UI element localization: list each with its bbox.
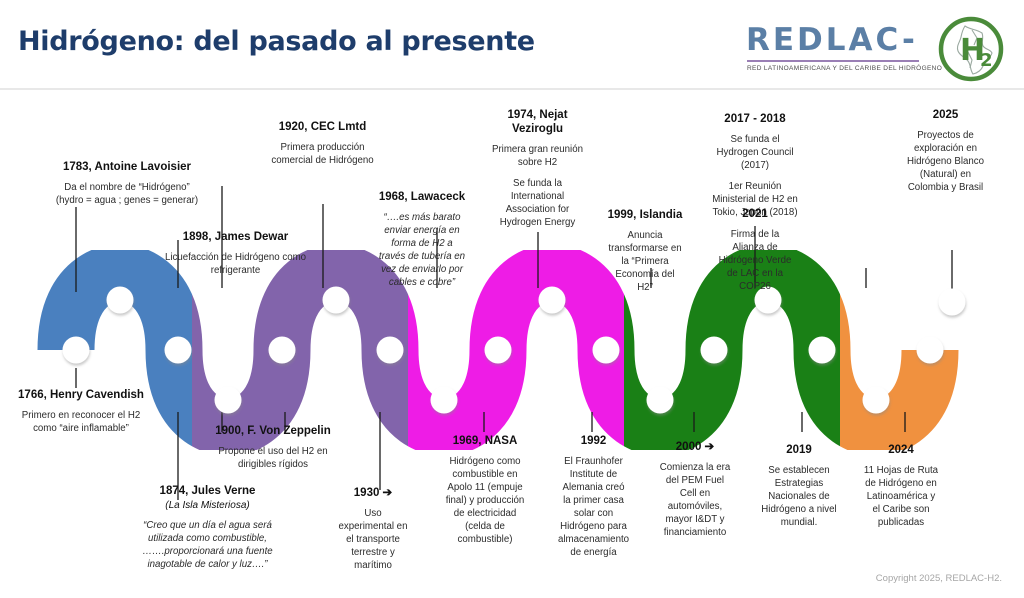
entry-body: Se establecen Estrategias Nacionales de … [743,464,855,529]
entry-title: 2024 [845,443,957,457]
entry-title: 2019 [743,443,855,457]
entry-body: Uso experimental en el transporte terres… [327,507,419,572]
entry-body: Comienza la era del PEM Fuel Cell en aut… [645,461,745,539]
entry-body: Hidrógeno como combustible en Apolo 11 (… [435,455,535,546]
entry-1898-dewar: 1898, James Dewar Licuefacción de Hidróg… [133,230,338,277]
marker-1999b[interactable] [647,387,674,414]
entry-body: Primero en reconocer el H2 como “aire in… [0,409,166,435]
entry-title: 1900, F. Von Zeppelin [193,424,353,438]
entry-body-2: Se funda la International Association fo… [480,177,595,229]
entry-1874-verne: 1874, Jules Verne (La Isla Misteriosa) “… [100,484,315,571]
entry-title: 1920, CEC Lmtd [245,120,400,134]
entry-2025-hidrogeno-blanco: 2025 Proyectos de exploración en Hidróge… [873,108,1018,194]
marker-2019[interactable] [809,337,836,364]
entry-body-1: Se funda el Hydrogen Council (2017) [685,133,825,172]
entry-body: 11 Hojas de Ruta de Hidrógeno en Latinoa… [845,464,957,529]
entry-body-1: Primera gran reunión sobre H2 [480,143,595,169]
entry-body: Primera producción comercial de Hidrógen… [245,141,400,167]
entry-title: 1783, Antoine Lavoisier [22,160,232,174]
entry-title: 2000 ➔ [645,440,745,454]
marker-1766[interactable] [63,337,90,364]
entry-title: 1898, James Dewar [133,230,338,244]
marker-1930[interactable] [377,337,404,364]
entry-body: El Fraunhofer Institute de Alemania creó… [546,455,641,559]
marker-2000[interactable] [701,337,728,364]
entry-body: Propone el uso del H2 en dirigibles rígi… [193,445,353,471]
entry-title: 1999, Islandia [590,208,700,222]
entry-title: 1969, NASA [435,434,535,448]
entry-2021-cop26: 2021 Firma de la Alianza de Hidrógeno Ve… [700,207,810,293]
entry-body: Proyectos de exploración en Hidrógeno Bl… [873,129,1018,194]
infographic-root: Hidrógeno: del pasado al presente REDLAC… [0,0,1024,598]
marker-2025[interactable] [939,289,966,316]
entry-1900-zeppelin: 1900, F. Von Zeppelin Propone el uso del… [193,424,353,471]
marker-1898b[interactable] [215,387,242,414]
entry-1992-fraunhofer: 1992 El Fraunhofer Institute de Alemania… [546,434,641,559]
entry-2017-2018-council: 2017 - 2018 Se funda el Hydrogen Council… [685,112,825,219]
marker-1920[interactable] [323,287,350,314]
marker-1992[interactable] [593,337,620,364]
marker-1900[interactable] [269,337,296,364]
entry-title: 1766, Henry Cavendish [0,388,166,402]
entry-1783-lavoisier: 1783, Antoine Lavoisier Da el nombre de … [22,160,232,207]
marker-1968b[interactable] [431,387,458,414]
entry-title: 2025 [873,108,1018,122]
entry-2024-hojas-ruta: 2024 11 Hojas de Ruta de Hidrógeno en La… [845,443,957,529]
entry-body: “Creo que un día el agua será utilizada … [100,519,315,571]
entry-2000-pem: 2000 ➔ Comienza la era del PEM Fuel Cell… [645,440,745,539]
entry-1920-cec: 1920, CEC Lmtd Primera producción comerc… [245,120,400,167]
entry-2019-estrategias: 2019 Se establecen Estrategias Nacionale… [743,443,855,529]
entry-1930-transporte: 1930 ➔ Uso experimental en el transporte… [327,486,419,572]
entry-body: Licuefacción de Hidrógeno como refrigera… [133,251,338,277]
entry-title: 1930 ➔ [327,486,419,500]
marker-2021b[interactable] [863,387,890,414]
marker-1969[interactable] [485,337,512,364]
copyright-text: Copyright 2025, REDLAC-H2. [876,573,1002,584]
entry-1969-nasa: 1969, NASA Hidrógeno como combustible en… [435,434,535,546]
entry-title: 2021 [700,207,810,221]
entry-body: Da el nombre de “Hidrógeno” (hydro = agu… [22,181,232,207]
marker-1783[interactable] [107,287,134,314]
entry-body: Firma de la Alianza de Hidrógeno Verde d… [700,228,810,293]
entry-title: 2017 - 2018 [685,112,825,126]
entry-title: 1968, Lawaceck [367,190,477,204]
entry-1974-veziroglu: 1974, Nejat Veziroglu Primera gran reuni… [480,108,595,229]
entry-body: Anuncia transformarse en la “Primera Eco… [590,229,700,294]
entry-title: 1874, Jules Verne [100,484,315,498]
entry-1999-islandia: 1999, Islandia Anuncia transformarse en … [590,208,700,294]
entry-1968-lawaceck: 1968, Lawaceck “….es más barato enviar e… [367,190,477,289]
entry-title: 1992 [546,434,641,448]
marker-1974[interactable] [539,287,566,314]
entry-body: “….es más barato enviar energía en forma… [367,211,477,289]
entry-1766-cavendish: 1766, Henry Cavendish Primero en reconoc… [0,388,166,435]
entry-subtitle: (La Isla Misteriosa) [100,500,315,512]
marker-1874[interactable] [165,337,192,364]
entry-title: 1974, Nejat Veziroglu [480,108,595,136]
marker-2024[interactable] [917,337,944,364]
